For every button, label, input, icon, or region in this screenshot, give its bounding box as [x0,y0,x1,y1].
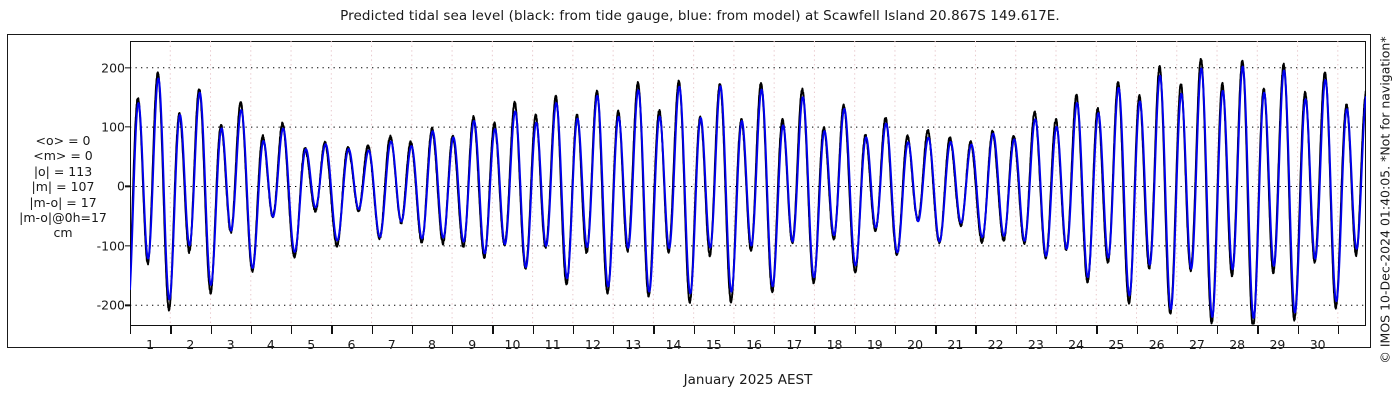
x-tick-mark [1298,326,1299,334]
statistics-block: <o> = 0<m> = 0|o| = 113|m| = 107|m-o| = … [4,133,122,241]
stat-line-4: |m-o| = 17 [4,195,122,210]
x-tick-mark [211,326,212,334]
plot-area: 2001000-100-2001234567891011121314151617… [130,41,1366,326]
x-tick-mark [533,326,534,334]
x-axis-title: January 2025 AEST [130,372,1366,388]
x-tick-mark [734,326,735,334]
stat-line-5: |m-o|@0h=17 [4,210,122,225]
x-tick-label: 11 [545,337,561,352]
y-tick-mark [125,305,130,306]
tidal-chart-page: Predicted tidal sea level (black: from t… [0,0,1400,400]
x-tick-mark [855,326,856,334]
x-tick-label: 19 [867,337,883,352]
x-tick-label: 30 [1310,337,1326,352]
x-tick-label: 13 [625,337,641,352]
x-tick-mark [895,326,896,334]
x-tick-label: 22 [988,337,1004,352]
stat-line-0: <o> = 0 [4,133,122,148]
x-tick-label: 25 [1108,337,1124,352]
credit-text: © IMOS 10-Dec-2024 01:40:05. *Not for na… [1378,36,1393,363]
x-tick-mark [372,326,373,334]
y-tick-mark [125,245,130,246]
x-tick-mark [1257,326,1258,334]
x-tick-mark [331,326,332,334]
x-tick-label: 12 [585,337,601,352]
x-tick-label: 5 [307,337,315,352]
stat-line-2: |o| = 113 [4,164,122,179]
x-tick-mark [291,326,292,334]
y-tick-mark [125,67,130,68]
x-tick-label: 23 [1028,337,1044,352]
x-tick-label: 16 [746,337,762,352]
x-tick-mark [573,326,574,334]
y-tick-label: 200 [101,60,125,75]
x-tick-label: 28 [1229,337,1245,352]
x-tick-label: 17 [786,337,802,352]
x-tick-mark [1056,326,1057,334]
x-tick-mark [774,326,775,334]
x-tick-label: 18 [827,337,843,352]
x-tick-mark [814,326,815,334]
x-tick-label: 10 [505,337,521,352]
x-tick-label: 8 [428,337,436,352]
x-tick-label: 3 [227,337,235,352]
x-tick-mark [1338,326,1339,334]
x-tick-label: 29 [1269,337,1285,352]
x-tick-label: 26 [1149,337,1165,352]
x-tick-label: 9 [468,337,476,352]
y-tick-label: -100 [97,238,125,253]
y-tick-label: 0 [117,179,125,194]
y-tick-mark [125,186,130,187]
x-tick-mark [492,326,493,334]
x-tick-label: 21 [947,337,963,352]
x-tick-mark [412,326,413,334]
x-tick-label: 2 [186,337,194,352]
x-tick-label: 15 [706,337,722,352]
model-series [130,67,1366,318]
x-tick-label: 20 [907,337,923,352]
x-tick-mark [1137,326,1138,334]
x-tick-label: 14 [666,337,682,352]
x-tick-label: 27 [1189,337,1205,352]
x-tick-mark [653,326,654,334]
x-tick-label: 7 [388,337,396,352]
page-title: Predicted tidal sea level (black: from t… [0,8,1400,24]
x-tick-label: 1 [146,337,154,352]
stat-line-3: |m| = 107 [4,179,122,194]
x-tick-mark [130,326,131,334]
credit-watermark: © IMOS 10-Dec-2024 01:40:05. *Not for na… [1372,0,1398,400]
stat-line-1: <m> = 0 [4,148,122,163]
x-tick-mark [975,326,976,334]
x-tick-mark [694,326,695,334]
y-tick-label: 100 [101,120,125,135]
tidal-series-plot [130,41,1366,326]
x-tick-label: 6 [347,337,355,352]
x-tick-mark [935,326,936,334]
x-tick-mark [1217,326,1218,334]
y-tick-mark [125,126,130,127]
x-tick-mark [1096,326,1097,334]
x-tick-mark [1177,326,1178,334]
x-tick-label: 4 [267,337,275,352]
x-tick-mark [452,326,453,334]
x-tick-label: 24 [1068,337,1084,352]
y-tick-label: -200 [97,298,125,313]
x-tick-mark [1016,326,1017,334]
x-tick-mark [170,326,171,334]
x-tick-mark [251,326,252,334]
x-tick-mark [613,326,614,334]
